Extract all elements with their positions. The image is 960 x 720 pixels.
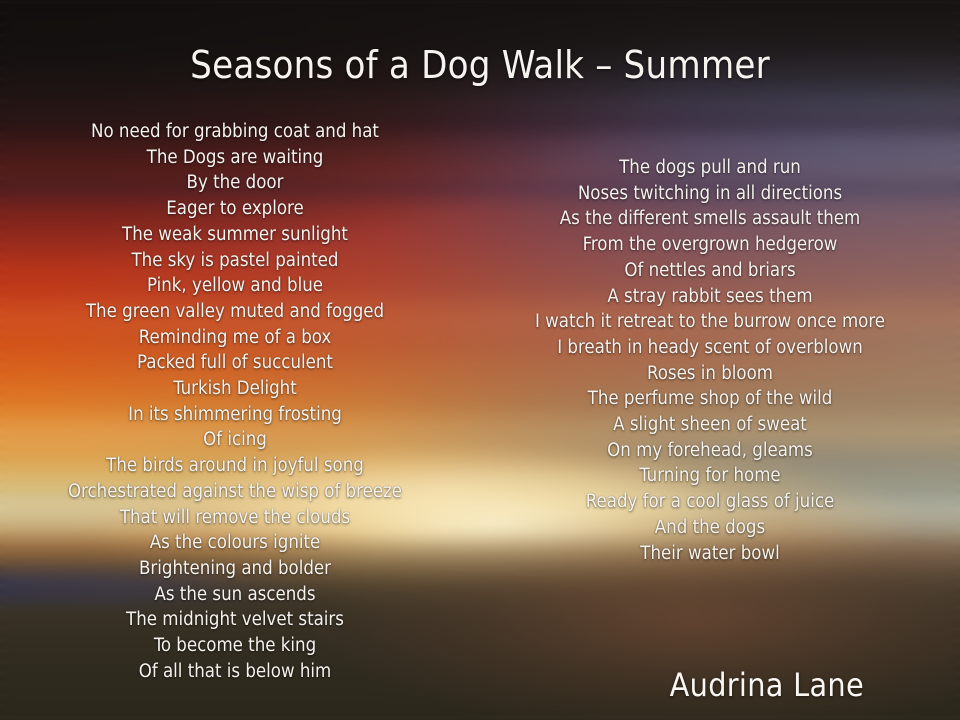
poem-line: Orchestrated against the wisp of breeze	[30, 479, 440, 505]
poem-line: Reminding me of a box	[30, 325, 440, 351]
poem-line: I breath in heady scent of overblown	[490, 335, 930, 361]
poem-stanza-right: The dogs pull and runNoses twitching in …	[490, 155, 930, 566]
poem-line: Eager to explore	[30, 196, 440, 222]
poem-line: Their water bowl	[490, 541, 930, 567]
poem-line: I watch it retreat to the burrow once mo…	[490, 309, 930, 335]
poem-line: In its shimmering frosting	[30, 402, 440, 428]
poem-line: The weak summer sunlight	[30, 222, 440, 248]
poem-line: To become the king	[30, 633, 440, 659]
poem-line: As the sun ascends	[30, 582, 440, 608]
page-title: Seasons of a Dog Walk – Summer	[0, 42, 960, 88]
poem-line: Of nettles and briars	[490, 258, 930, 284]
poem-line: The Dogs are waiting	[30, 145, 440, 171]
poem-line: By the door	[30, 170, 440, 196]
poem-line: Ready for a cool glass of juice	[490, 489, 930, 515]
poem-line: As the colours ignite	[30, 530, 440, 556]
poem-line: No need for grabbing coat and hat	[30, 119, 440, 145]
poem-line: Noses twitching in all directions	[490, 181, 930, 207]
poem-line: As the different smells assault them	[490, 206, 930, 232]
poem-line: From the overgrown hedgerow	[490, 232, 930, 258]
poem-line: Of all that is below him	[30, 659, 440, 685]
poem-line: The sky is pastel painted	[30, 248, 440, 274]
poem-line: The perfume shop of the wild	[490, 386, 930, 412]
poem-line: A stray rabbit sees them	[490, 284, 930, 310]
poem-line: And the dogs	[490, 515, 930, 541]
poem-poster: Seasons of a Dog Walk – Summer No need f…	[0, 0, 960, 720]
poem-line: Brightening and bolder	[30, 556, 440, 582]
poem-line: That will remove the clouds	[30, 505, 440, 531]
poem-line: Pink, yellow and blue	[30, 273, 440, 299]
author-credit: Audrina Lane	[670, 666, 864, 704]
poem-line: Roses in bloom	[490, 361, 930, 387]
poem-line: Packed full of succulent	[30, 350, 440, 376]
poem-line: The dogs pull and run	[490, 155, 930, 181]
poem-stanza-left: No need for grabbing coat and hatThe Dog…	[30, 119, 440, 684]
poem-line: Turning for home	[490, 463, 930, 489]
poem-line: The green valley muted and fogged	[30, 299, 440, 325]
poem-line: The birds around in joyful song	[30, 453, 440, 479]
poem-line: Of icing	[30, 427, 440, 453]
poem-line: On my forehead, gleams	[490, 438, 930, 464]
poem-line: The midnight velvet stairs	[30, 607, 440, 633]
poem-line: A slight sheen of sweat	[490, 412, 930, 438]
poem-line: Turkish Delight	[30, 376, 440, 402]
